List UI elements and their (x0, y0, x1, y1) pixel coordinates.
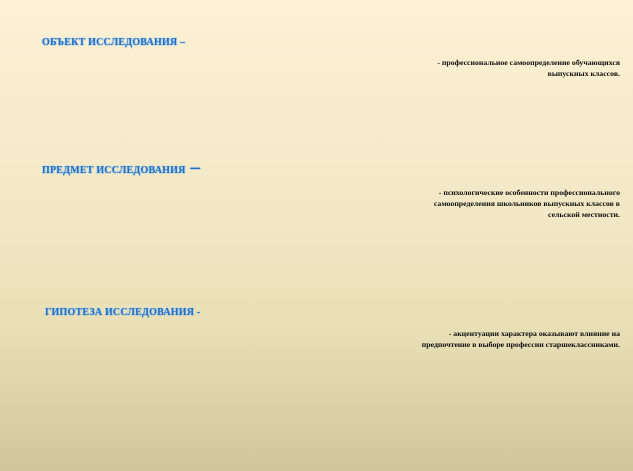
section-subject-body-line-1: - психологические особенности профессион… (0, 187, 620, 198)
section-subject-body-line-3: сельской местности. (0, 209, 620, 220)
section-hypothesis-body-line-2: предпочтение в выборе профессии старшекл… (0, 339, 620, 350)
section-hypothesis: ГИПОТЕЗА ИССЛЕДОВАНИЯ - - акцентуации ха… (0, 308, 633, 350)
section-hypothesis-body: - акцентуации характера оказывают влияни… (0, 319, 633, 350)
slide-canvas: ОБЪЕКТ ИССЛЕДОВАНИЯ – - профессиональное… (0, 0, 633, 471)
section-subject-heading-dash: – (186, 157, 201, 178)
section-object: ОБЪЕКТ ИССЛЕДОВАНИЯ – - профессиональное… (0, 38, 633, 79)
section-subject-heading: ПРЕДМЕТ ИССЛЕДОВАНИЯ – (0, 158, 633, 178)
section-object-body-line-2: выпускных классов. (0, 68, 620, 79)
section-subject-body-line-2: самоопределения школьников выпускных кла… (0, 198, 620, 209)
section-hypothesis-heading: ГИПОТЕЗА ИССЛЕДОВАНИЯ - (0, 308, 633, 319)
section-hypothesis-heading-text: ГИПОТЕЗА ИССЛЕДОВАНИЯ (45, 307, 194, 318)
section-hypothesis-body-line-1: - акцентуации характера оказывают влияни… (0, 328, 620, 339)
section-object-body-line-1: - профессиональное самоопределение обуча… (0, 57, 620, 68)
section-object-heading: ОБЪЕКТ ИССЛЕДОВАНИЯ – (0, 38, 633, 49)
section-subject: ПРЕДМЕТ ИССЛЕДОВАНИЯ – - психологические… (0, 158, 633, 220)
section-hypothesis-heading-dash: - (194, 307, 200, 318)
section-object-heading-text: ОБЪЕКТ ИССЛЕДОВАНИЯ (42, 37, 177, 48)
section-object-body: - профессиональное самоопределение обуча… (0, 49, 633, 79)
section-subject-body: - психологические особенности профессион… (0, 178, 633, 220)
section-subject-heading-text: ПРЕДМЕТ ИССЛЕДОВАНИЯ (42, 165, 186, 176)
section-object-heading-dash: – (177, 37, 185, 48)
